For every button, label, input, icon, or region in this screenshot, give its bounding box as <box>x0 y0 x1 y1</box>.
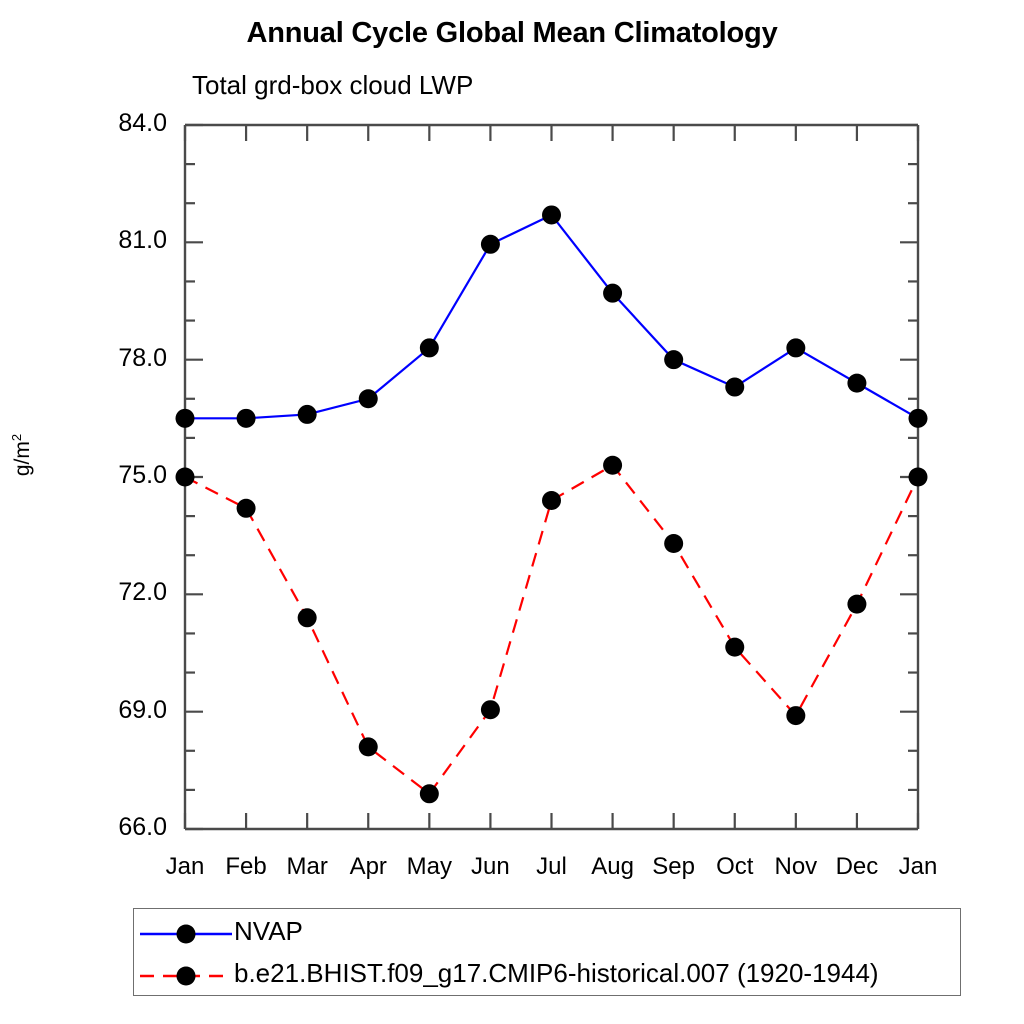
series-line-1 <box>185 465 918 794</box>
x-tick-label: Jun <box>455 853 525 881</box>
legend: NVAPb.e21.BHIST.f09_g17.CMIP6-historical… <box>133 908 961 996</box>
x-tick-label: May <box>394 853 464 881</box>
x-tick-label: Nov <box>761 853 831 881</box>
axis-ticks <box>185 125 918 829</box>
data-point <box>909 409 928 428</box>
legend-swatch-0 <box>138 913 234 955</box>
data-point <box>603 284 622 303</box>
data-point <box>359 389 378 408</box>
x-tick-label: Sep <box>639 853 709 881</box>
chart-container: Annual Cycle Global Mean Climatology Tot… <box>0 0 1024 1024</box>
data-point <box>664 534 683 553</box>
x-tick-label: Jan <box>883 853 953 881</box>
legend-marker <box>177 925 196 944</box>
data-point <box>237 409 256 428</box>
y-tick-label: 84.0 <box>57 109 167 138</box>
x-tick-label: Dec <box>822 853 892 881</box>
data-point <box>909 468 928 487</box>
y-tick-label: 72.0 <box>57 578 167 607</box>
y-tick-label: 75.0 <box>57 461 167 490</box>
data-point <box>786 338 805 357</box>
x-tick-label: Aug <box>578 853 648 881</box>
axes-frame <box>185 125 918 829</box>
data-point <box>725 378 744 397</box>
x-tick-label: Apr <box>333 853 403 881</box>
data-point <box>847 595 866 614</box>
data-point <box>359 737 378 756</box>
x-tick-label: Mar <box>272 853 342 881</box>
legend-label: b.e21.BHIST.f09_g17.CMIP6-historical.007… <box>234 958 879 989</box>
data-point <box>420 338 439 357</box>
data-point <box>176 468 195 487</box>
data-point <box>725 638 744 657</box>
data-point <box>298 608 317 627</box>
x-tick-label: Jan <box>150 853 220 881</box>
data-point <box>847 374 866 393</box>
data-point <box>542 205 561 224</box>
legend-marker <box>177 967 196 986</box>
data-point <box>420 784 439 803</box>
data-point <box>786 706 805 725</box>
y-tick-label: 66.0 <box>57 813 167 842</box>
data-point <box>237 499 256 518</box>
x-tick-label: Feb <box>211 853 281 881</box>
legend-swatch-1 <box>138 955 234 997</box>
data-series-group <box>176 205 928 803</box>
series-line-0 <box>185 215 918 418</box>
legend-label: NVAP <box>234 916 303 947</box>
x-tick-label: Oct <box>700 853 770 881</box>
data-point <box>481 700 500 719</box>
legend-item-1[interactable]: b.e21.BHIST.f09_g17.CMIP6-historical.007… <box>134 955 960 999</box>
y-tick-label: 78.0 <box>57 344 167 373</box>
data-point <box>481 235 500 254</box>
data-point <box>664 350 683 369</box>
data-point <box>603 456 622 475</box>
legend-item-0[interactable]: NVAP <box>134 913 960 957</box>
y-tick-label: 81.0 <box>57 226 167 255</box>
y-tick-label: 69.0 <box>57 696 167 725</box>
data-point <box>542 491 561 510</box>
data-point <box>298 405 317 424</box>
data-point <box>176 409 195 428</box>
x-tick-label: Jul <box>517 853 587 881</box>
